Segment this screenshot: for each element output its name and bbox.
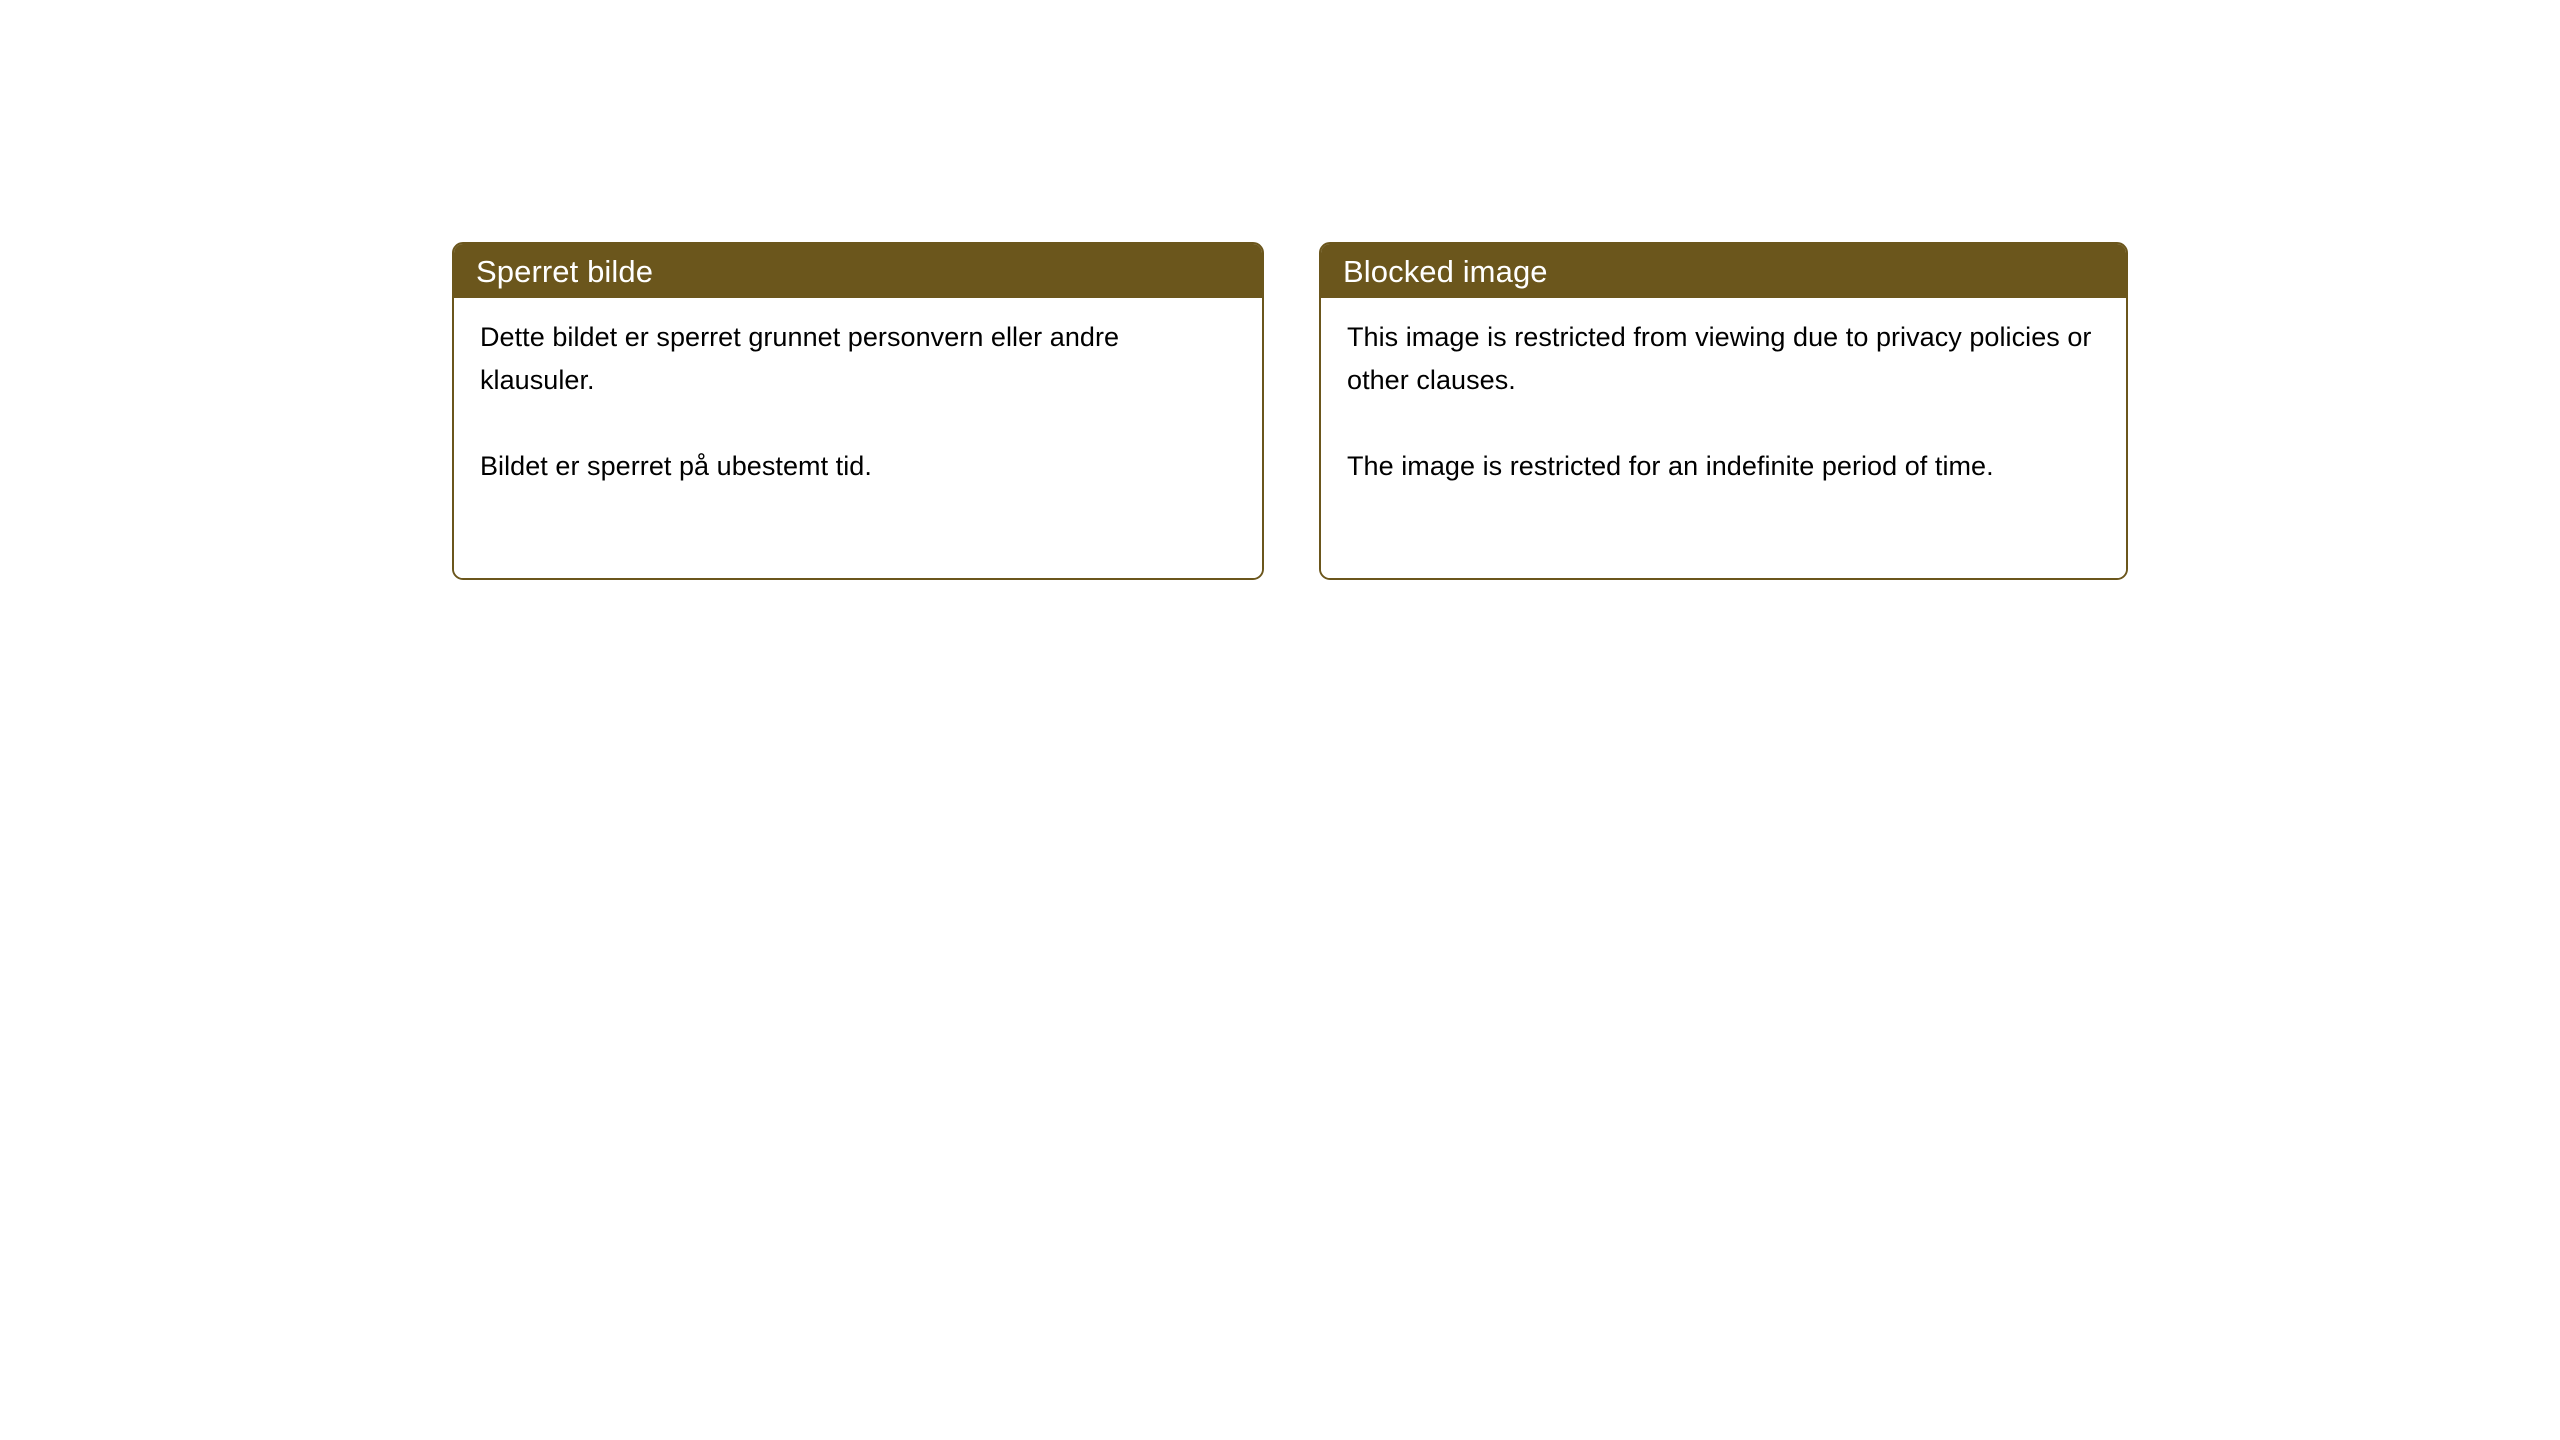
card-title-norwegian: Sperret bilde bbox=[476, 256, 653, 287]
card-title-english: Blocked image bbox=[1343, 256, 1548, 287]
blocked-image-card-english: Blocked image This image is restricted f… bbox=[1319, 242, 2128, 580]
card-paragraph-reason-english: This image is restricted from viewing du… bbox=[1347, 316, 2102, 402]
card-header-english: Blocked image bbox=[1321, 244, 2126, 298]
card-body-english: This image is restricted from viewing du… bbox=[1321, 298, 2126, 578]
card-paragraph-reason-norwegian: Dette bildet er sperret grunnet personve… bbox=[480, 316, 1238, 402]
card-header-norwegian: Sperret bilde bbox=[454, 244, 1262, 298]
card-paragraph-duration-norwegian: Bildet er sperret på ubestemt tid. bbox=[480, 445, 1238, 488]
blocked-image-card-norwegian: Sperret bilde Dette bildet er sperret gr… bbox=[452, 242, 1264, 580]
card-paragraph-duration-english: The image is restricted for an indefinit… bbox=[1347, 445, 2102, 488]
card-body-norwegian: Dette bildet er sperret grunnet personve… bbox=[454, 298, 1262, 578]
blocked-image-notice-group: Sperret bilde Dette bildet er sperret gr… bbox=[452, 242, 2128, 580]
